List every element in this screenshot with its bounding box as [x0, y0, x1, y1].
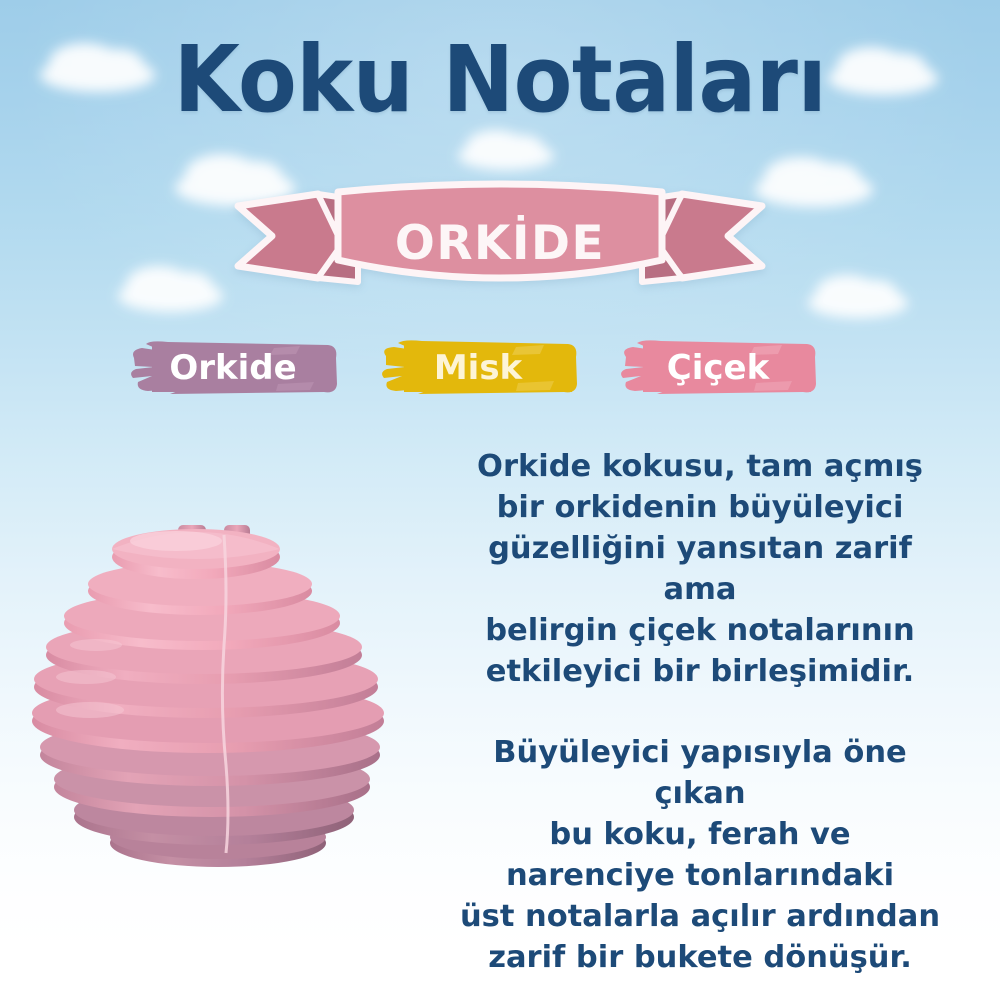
brush-stroke-icon [618, 336, 818, 400]
description-line: narenciye tonlarındaki [448, 855, 952, 896]
description-line: Büyüleyici yapısıyla öne çıkan [448, 732, 952, 814]
product-image [28, 465, 428, 885]
scent-tag-list: Orkide Misk Çiçek [0, 336, 1000, 406]
cloud-icon [118, 280, 223, 312]
paragraph-spacer [448, 692, 952, 732]
description-line: üst notalarla açılır ardından [448, 896, 952, 937]
poster-canvas: Koku Notaları ORKİDE Orkide [0, 0, 1000, 1000]
description-line: Orkide kokusu, tam açmış [448, 446, 952, 487]
brush-stroke-icon [378, 336, 578, 400]
scent-tag-orkide: Orkide [128, 336, 338, 400]
scent-tag-cicek: Çiçek [618, 336, 818, 400]
description-line: etkileyici bir birleşimidir. [448, 651, 952, 692]
page-title: Koku Notaları [35, 34, 965, 126]
cloud-icon [755, 172, 873, 207]
description-block: Orkide kokusu, tam açmış bir orkidenin b… [448, 446, 952, 978]
description-line: zarif bir bukete dönüşür. [448, 937, 952, 978]
ribbon-banner: ORKİDE [230, 178, 770, 302]
ribbon-shape-icon [230, 178, 770, 302]
description-line: bir orkidenin büyüleyici [448, 487, 952, 528]
scent-tag-misk: Misk [378, 336, 578, 400]
cloud-icon [458, 142, 554, 170]
brush-stroke-icon [128, 336, 338, 400]
description-line: güzelliğini yansıtan zarif ama [448, 528, 952, 610]
stacked-disc-freshener-icon [28, 465, 428, 885]
description-line: bu koku, ferah ve [448, 814, 952, 855]
description-line: belirgin çiçek notalarının [448, 610, 952, 651]
cloud-icon [808, 288, 908, 318]
